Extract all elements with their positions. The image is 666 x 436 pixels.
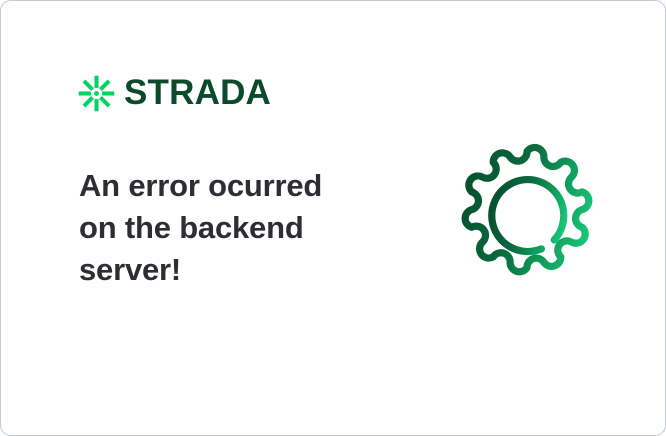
error-message-line-3: server! <box>79 249 379 291</box>
error-message-line-1: An error ocurred <box>79 165 379 207</box>
error-message: An error ocurred on the backend server! <box>79 165 379 291</box>
brand-logo[interactable]: STRADA <box>78 72 271 114</box>
gear-illustration <box>447 142 607 302</box>
strada-asterisk-icon <box>78 75 115 112</box>
gear-icon <box>447 142 607 302</box>
brand-wordmark: STRADA <box>124 75 271 110</box>
error-card: STRADA An error ocurred on the backend s… <box>0 0 666 436</box>
error-message-line-2: on the backend <box>79 207 379 249</box>
